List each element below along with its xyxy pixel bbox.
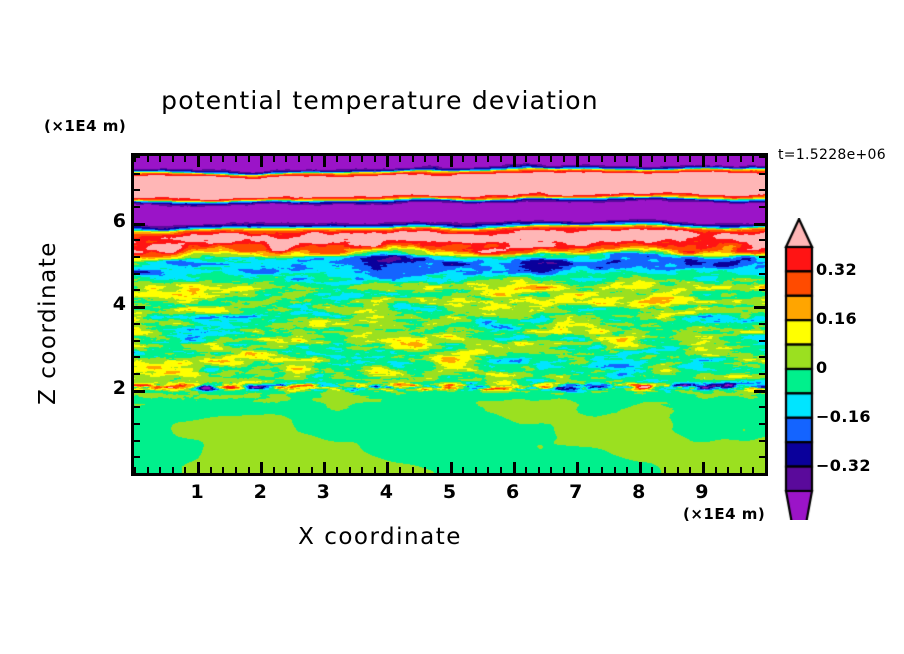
colorbar-tick-label: −0.32 (816, 456, 871, 475)
time-annotation: t=1.5228e+06 (778, 147, 886, 163)
x-tick-label: 2 (245, 481, 275, 503)
x-tick-label: 9 (687, 481, 717, 503)
x-tick-label: 8 (624, 481, 654, 503)
colorbar-tick-label: 0.16 (816, 309, 857, 328)
y-axis-title: Z coordinate (35, 213, 61, 433)
x-tick-label: 5 (435, 481, 465, 503)
x-axis-units: (×1E4 m) (683, 505, 765, 523)
x-tick-label: 4 (371, 481, 401, 503)
y-tick-label: 2 (96, 377, 126, 399)
y-tick-label: 4 (96, 293, 126, 315)
y-tick-label: 6 (96, 210, 126, 232)
x-tick-label: 6 (498, 481, 528, 503)
x-tick-label: 1 (182, 481, 212, 503)
page-title: potential temperature deviation (0, 86, 760, 115)
x-axis-title: X coordinate (0, 524, 760, 550)
colorbar (780, 218, 818, 520)
colorbar-tick-label: 0.32 (816, 260, 857, 279)
colorbar-tick-label: 0 (816, 358, 828, 377)
y-axis-units: (×1E4 m) (44, 117, 126, 135)
x-tick-label: 3 (308, 481, 338, 503)
colorbar-tick-label: −0.16 (816, 407, 871, 426)
x-tick-label: 7 (561, 481, 591, 503)
contour-field (134, 156, 765, 473)
